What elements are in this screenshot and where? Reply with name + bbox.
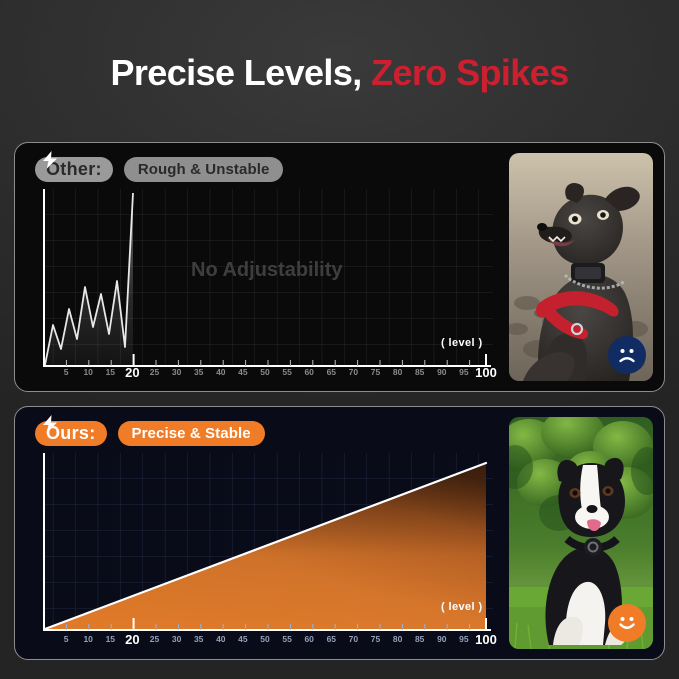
- x-tick-55: 55: [282, 634, 291, 644]
- x-tick-80: 80: [393, 367, 402, 377]
- page-title-part1: Precise Levels,: [110, 52, 361, 93]
- x-tick-15: 15: [106, 634, 115, 644]
- x-tick-30: 30: [172, 634, 181, 644]
- x-tick-65: 65: [327, 634, 336, 644]
- level-caption-ours: ( level ): [441, 601, 483, 613]
- x-tick-45: 45: [238, 634, 247, 644]
- x-tick-40: 40: [216, 634, 225, 644]
- photo-card-other: [509, 153, 653, 381]
- x-tick-90: 90: [437, 367, 446, 377]
- level-caption-other: ( level ): [441, 337, 483, 349]
- x-tick-25: 25: [150, 367, 159, 377]
- x-tick-100: 100: [475, 632, 497, 647]
- photo-card-ours: [509, 417, 653, 649]
- other-tag-pill: Rough & Unstable: [124, 157, 284, 182]
- panel-other: Other: Rough & Unstable: [14, 142, 665, 392]
- x-tick-85: 85: [415, 367, 424, 377]
- x-tick-60: 60: [304, 367, 313, 377]
- x-tick-65: 65: [327, 367, 336, 377]
- sad-face-icon: [608, 336, 646, 374]
- x-axis-labels-other: 5101520253035404550556065707580859095100: [31, 364, 493, 380]
- x-tick-40: 40: [216, 367, 225, 377]
- x-tick-75: 75: [371, 634, 380, 644]
- lightning-bolt-icon: [42, 415, 58, 433]
- page-title: Precise Levels, Zero Spikes: [0, 52, 679, 94]
- x-tick-30: 30: [172, 367, 181, 377]
- chart-other: [31, 189, 493, 379]
- x-tick-25: 25: [150, 634, 159, 644]
- x-tick-5: 5: [64, 634, 69, 644]
- x-tick-55: 55: [282, 367, 291, 377]
- ours-tag-pill: Precise & Stable: [118, 421, 265, 446]
- panel-ours-header: Ours: Precise & Stable: [35, 421, 265, 446]
- x-tick-50: 50: [260, 367, 269, 377]
- x-tick-20: 20: [125, 365, 139, 380]
- x-tick-85: 85: [415, 634, 424, 644]
- x-tick-5: 5: [64, 367, 69, 377]
- panel-ours: Ours: Precise & Stable: [14, 406, 665, 660]
- x-tick-10: 10: [83, 634, 92, 644]
- x-tick-80: 80: [393, 634, 402, 644]
- panel-other-header: Other: Rough & Unstable: [35, 157, 283, 182]
- x-tick-35: 35: [194, 367, 203, 377]
- chart-other-svg: [31, 189, 493, 379]
- x-tick-70: 70: [349, 634, 358, 644]
- lightning-bolt-icon: [42, 151, 58, 169]
- x-tick-15: 15: [106, 367, 115, 377]
- x-tick-35: 35: [194, 634, 203, 644]
- chart-ours: [31, 453, 493, 643]
- x-tick-95: 95: [459, 367, 468, 377]
- x-tick-95: 95: [459, 634, 468, 644]
- x-tick-100: 100: [475, 365, 497, 380]
- x-tick-70: 70: [349, 367, 358, 377]
- x-tick-10: 10: [83, 367, 92, 377]
- page-title-part2: Zero Spikes: [371, 52, 568, 93]
- x-tick-20: 20: [125, 632, 139, 647]
- x-tick-45: 45: [238, 367, 247, 377]
- happy-face-icon: [608, 604, 646, 642]
- x-tick-90: 90: [437, 634, 446, 644]
- x-tick-75: 75: [371, 367, 380, 377]
- x-tick-60: 60: [304, 634, 313, 644]
- chart-other-watermark: No Adjustability: [191, 259, 342, 282]
- x-tick-50: 50: [260, 634, 269, 644]
- x-axis-labels-ours: 5101520253035404550556065707580859095100: [31, 631, 493, 647]
- chart-ours-svg: [31, 453, 493, 643]
